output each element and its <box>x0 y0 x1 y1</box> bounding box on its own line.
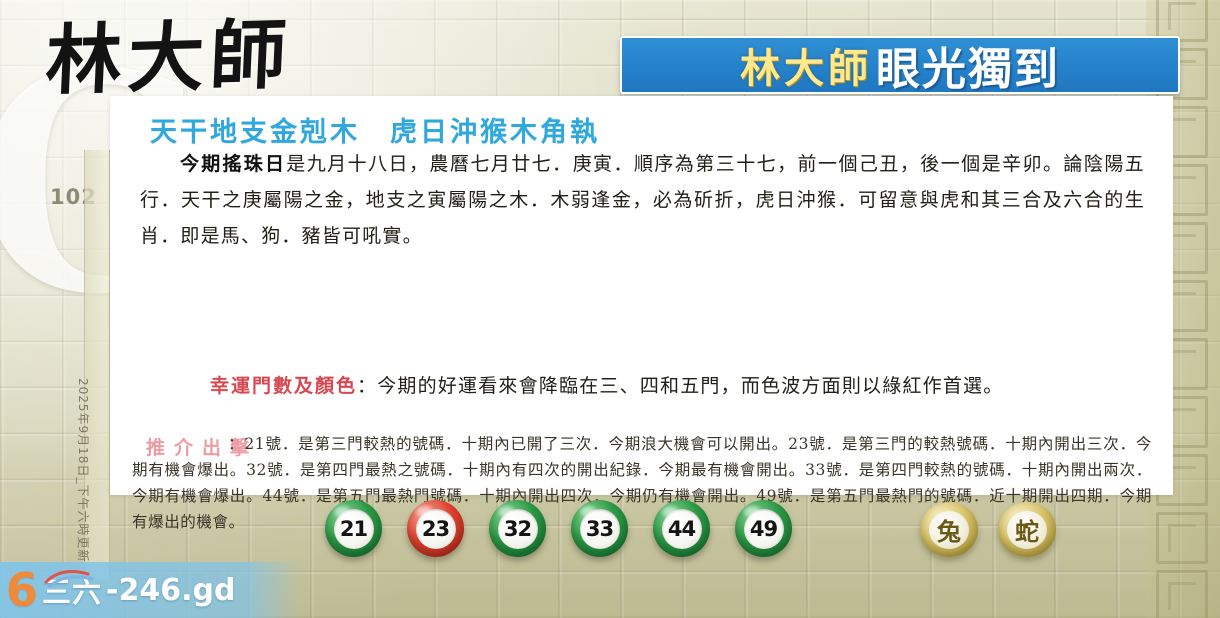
lucky-label: 幸運門數及顏色 <box>210 375 357 397</box>
update-timestamp: 2025年9月18日_下午六時更新 <box>75 378 92 562</box>
site-watermark: 6 三六 -246.gd <box>0 562 300 618</box>
content-panel: 天干地支金剋木 虎日沖猴木角執 今期搖珠日是九月十八日，農曆七月廿七．庚寅．順序… <box>110 96 1173 495</box>
lottery-ball-face: 49 <box>744 509 784 549</box>
lottery-ball-number: 44 <box>668 517 695 541</box>
lottery-ball: 21 <box>325 500 382 557</box>
watermark-cn: 三六 <box>42 569 102 611</box>
logo-digit: 6 <box>6 567 38 613</box>
lottery-ball: 33 <box>571 500 628 557</box>
zodiac-ball-face: 兔 <box>929 511 969 549</box>
lottery-ball-number: 32 <box>504 517 531 541</box>
slogan-banner: 林大師 眼光獨到 <box>620 36 1180 94</box>
lottery-ball: 44 <box>653 500 710 557</box>
greek-key-unit <box>1156 570 1208 618</box>
lottery-ball-number: 23 <box>422 517 449 541</box>
lottery-ball-face: 33 <box>580 509 620 549</box>
lottery-ball-number: 49 <box>750 517 777 541</box>
lottery-ball-face: 21 <box>334 509 374 549</box>
main-paragraph: 今期搖珠日是九月十八日，農曆七月廿七．庚寅．順序為第三十七，前一個己丑，後一個是… <box>140 146 1145 254</box>
zodiac-ball-row: 兔蛇 <box>920 502 1056 557</box>
lucky-paragraph: 幸運門數及顏色：今期的好運看來會降臨在三、四和五門，而色波方面則以綠紅作首選。 <box>140 368 1145 404</box>
lucky-text: ：今期的好運看來會降臨在三、四和五門，而色波方面則以綠紅作首選。 <box>357 375 1003 397</box>
lottery-ball-number: 33 <box>586 517 613 541</box>
article-title: 天干地支金剋木 虎日沖猴木角執 <box>150 110 600 149</box>
zodiac-ball: 兔 <box>920 502 978 557</box>
lottery-ball: 23 <box>407 500 464 557</box>
banner-slogan: 眼光獨到 <box>876 36 1060 94</box>
zodiac-ball: 蛇 <box>998 502 1056 557</box>
zodiac-ball-face: 蛇 <box>1007 511 1047 549</box>
banner-name: 林大師 <box>740 36 872 94</box>
page-root: G 102 2025年9月18日_下午六時更新 林大師 林大師 眼光獨到 天干地… <box>0 0 1220 618</box>
lottery-ball-face: 32 <box>498 509 538 549</box>
zodiac-character: 兔 <box>937 512 961 547</box>
lottery-ball-number: 21 <box>340 517 367 541</box>
lottery-ball: 49 <box>735 500 792 557</box>
main-paragraph-text: 是九月十八日，農曆七月廿七．庚寅．順序為第三十七，前一個己丑，後一個是辛卯。論陰… <box>140 153 1145 247</box>
lottery-ball-row: 212332334449 <box>325 500 792 557</box>
main-lead-label: 今期搖珠日 <box>180 153 286 175</box>
lottery-ball-face: 23 <box>416 509 456 549</box>
greek-key-unit <box>1156 512 1208 564</box>
lottery-ball: 32 <box>489 500 546 557</box>
zodiac-character: 蛇 <box>1015 512 1039 547</box>
watermark-domain: -246.gd <box>106 573 235 608</box>
lottery-ball-face: 44 <box>662 509 702 549</box>
masthead-title: 林大師 <box>44 17 294 99</box>
